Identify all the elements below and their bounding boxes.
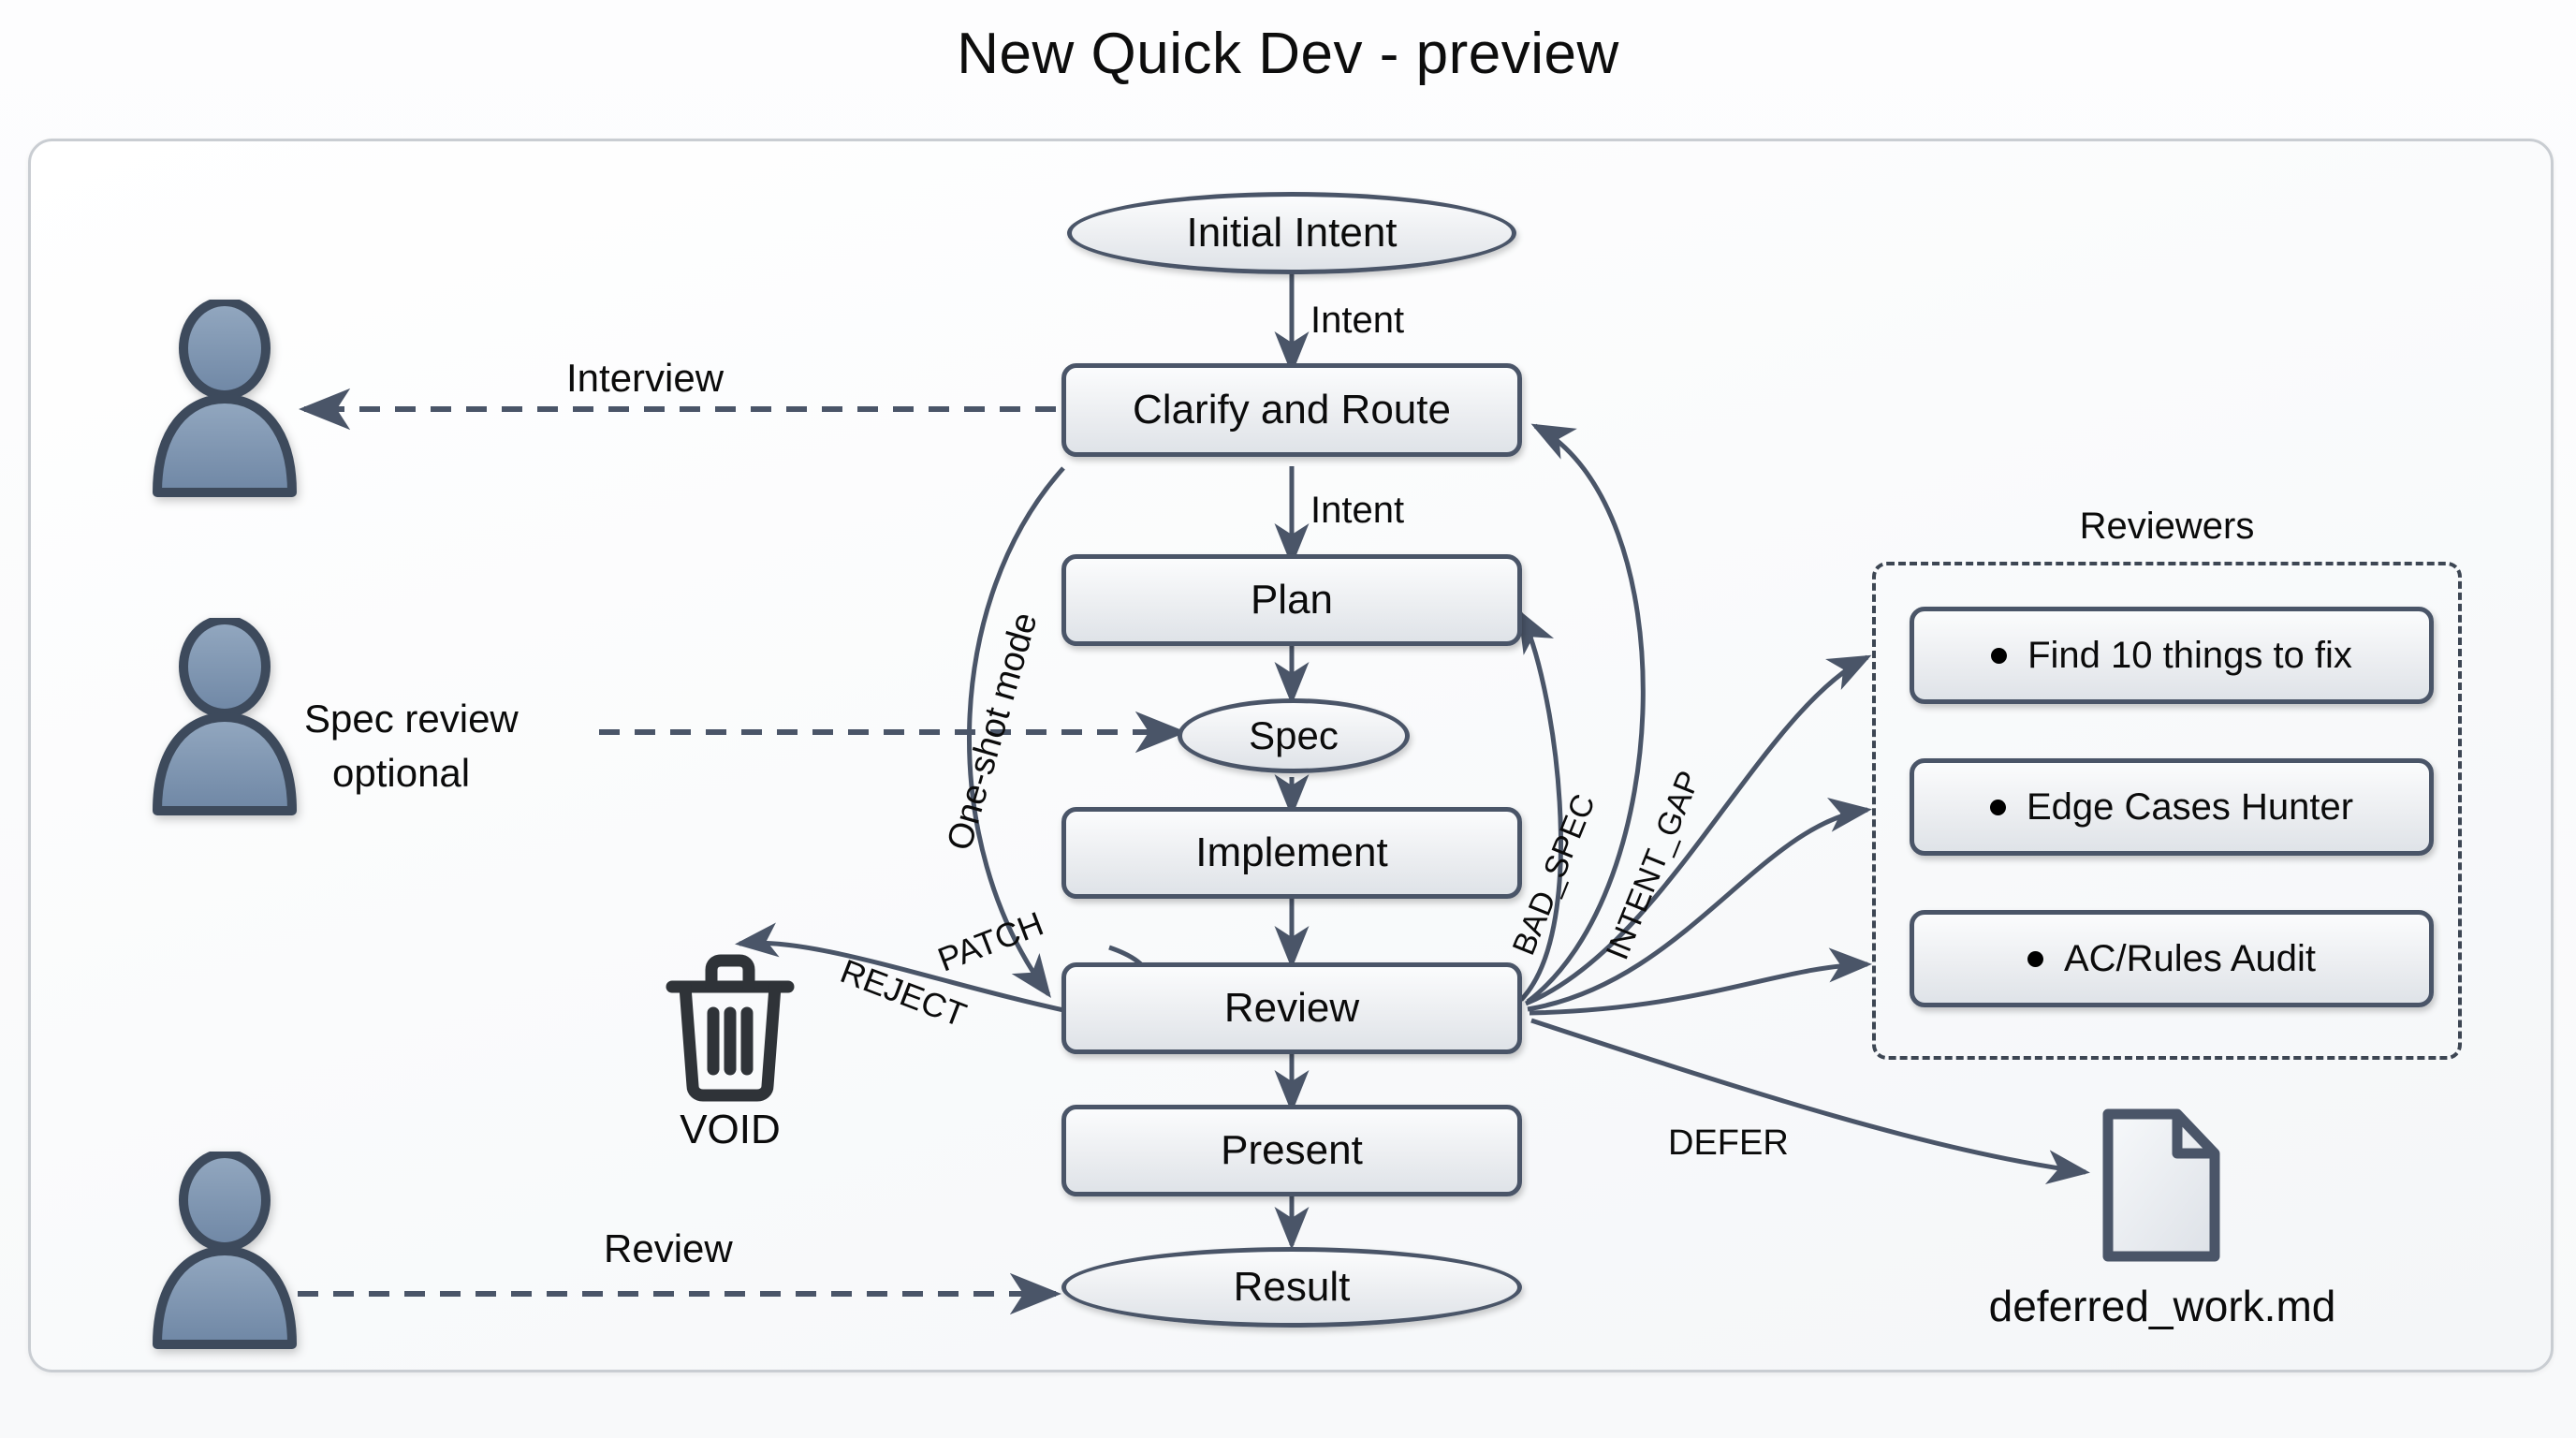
node-label: Review <box>1224 985 1359 1032</box>
reviewer-label: AC/Rules Audit <box>2064 938 2316 980</box>
edge-label-intent-2: Intent <box>1310 490 1404 532</box>
edge-label-defer: DEFER <box>1668 1123 1789 1164</box>
node-initial-intent[interactable]: Initial Intent <box>1067 192 1516 274</box>
reviewer-label: Find 10 things to fix <box>2027 635 2352 677</box>
bullet-icon <box>1991 648 2007 664</box>
node-label: Result <box>1234 1264 1351 1311</box>
reviewer-card-1[interactable]: Edge Cases Hunter <box>1910 758 2434 856</box>
reviewer-card-0[interactable]: Find 10 things to fix <box>1910 607 2434 704</box>
node-present[interactable]: Present <box>1061 1105 1522 1196</box>
void-trash-icon[interactable] <box>655 946 805 1109</box>
edge-label-spec-review-line2: optional <box>332 751 470 796</box>
bullet-icon <box>1990 800 2006 815</box>
node-plan[interactable]: Plan <box>1061 554 1522 646</box>
page-title: New Quick Dev - preview <box>0 21 2576 87</box>
edge-label-review-human: Review <box>604 1226 733 1271</box>
diagram-canvas: New Quick Dev - preview <box>0 0 2576 1438</box>
void-label: VOID <box>646 1107 814 1153</box>
node-label: Spec <box>1249 713 1339 758</box>
node-clarify-and-route[interactable]: Clarify and Route <box>1061 363 1522 457</box>
reviewer-label: Edge Cases Hunter <box>2027 786 2353 829</box>
edge-label-interview: Interview <box>566 356 724 401</box>
edge-label-intent-1: Intent <box>1310 300 1404 342</box>
node-label: Clarify and Route <box>1133 387 1451 433</box>
reviewers-title: Reviewers <box>1872 506 2462 548</box>
node-label: Present <box>1221 1127 1363 1174</box>
node-label: Implement <box>1195 829 1387 876</box>
interview-actor[interactable] <box>140 300 253 449</box>
node-spec[interactable]: Spec <box>1178 698 1410 773</box>
node-result[interactable]: Result <box>1061 1247 1522 1328</box>
spec-review-actor[interactable] <box>140 618 253 768</box>
result-review-actor[interactable] <box>140 1152 253 1301</box>
edge-label-spec-review-line1: Spec review <box>304 697 519 741</box>
bullet-icon <box>2027 951 2043 967</box>
deferred-file-icon[interactable] <box>2097 1105 2228 1273</box>
node-review[interactable]: Review <box>1061 962 1522 1054</box>
node-implement[interactable]: Implement <box>1061 807 1522 899</box>
node-label: Plan <box>1251 577 1333 624</box>
deferred-file-label: deferred_work.md <box>1910 1281 2415 1331</box>
node-label: Initial Intent <box>1186 210 1397 257</box>
reviewer-card-2[interactable]: AC/Rules Audit <box>1910 910 2434 1007</box>
